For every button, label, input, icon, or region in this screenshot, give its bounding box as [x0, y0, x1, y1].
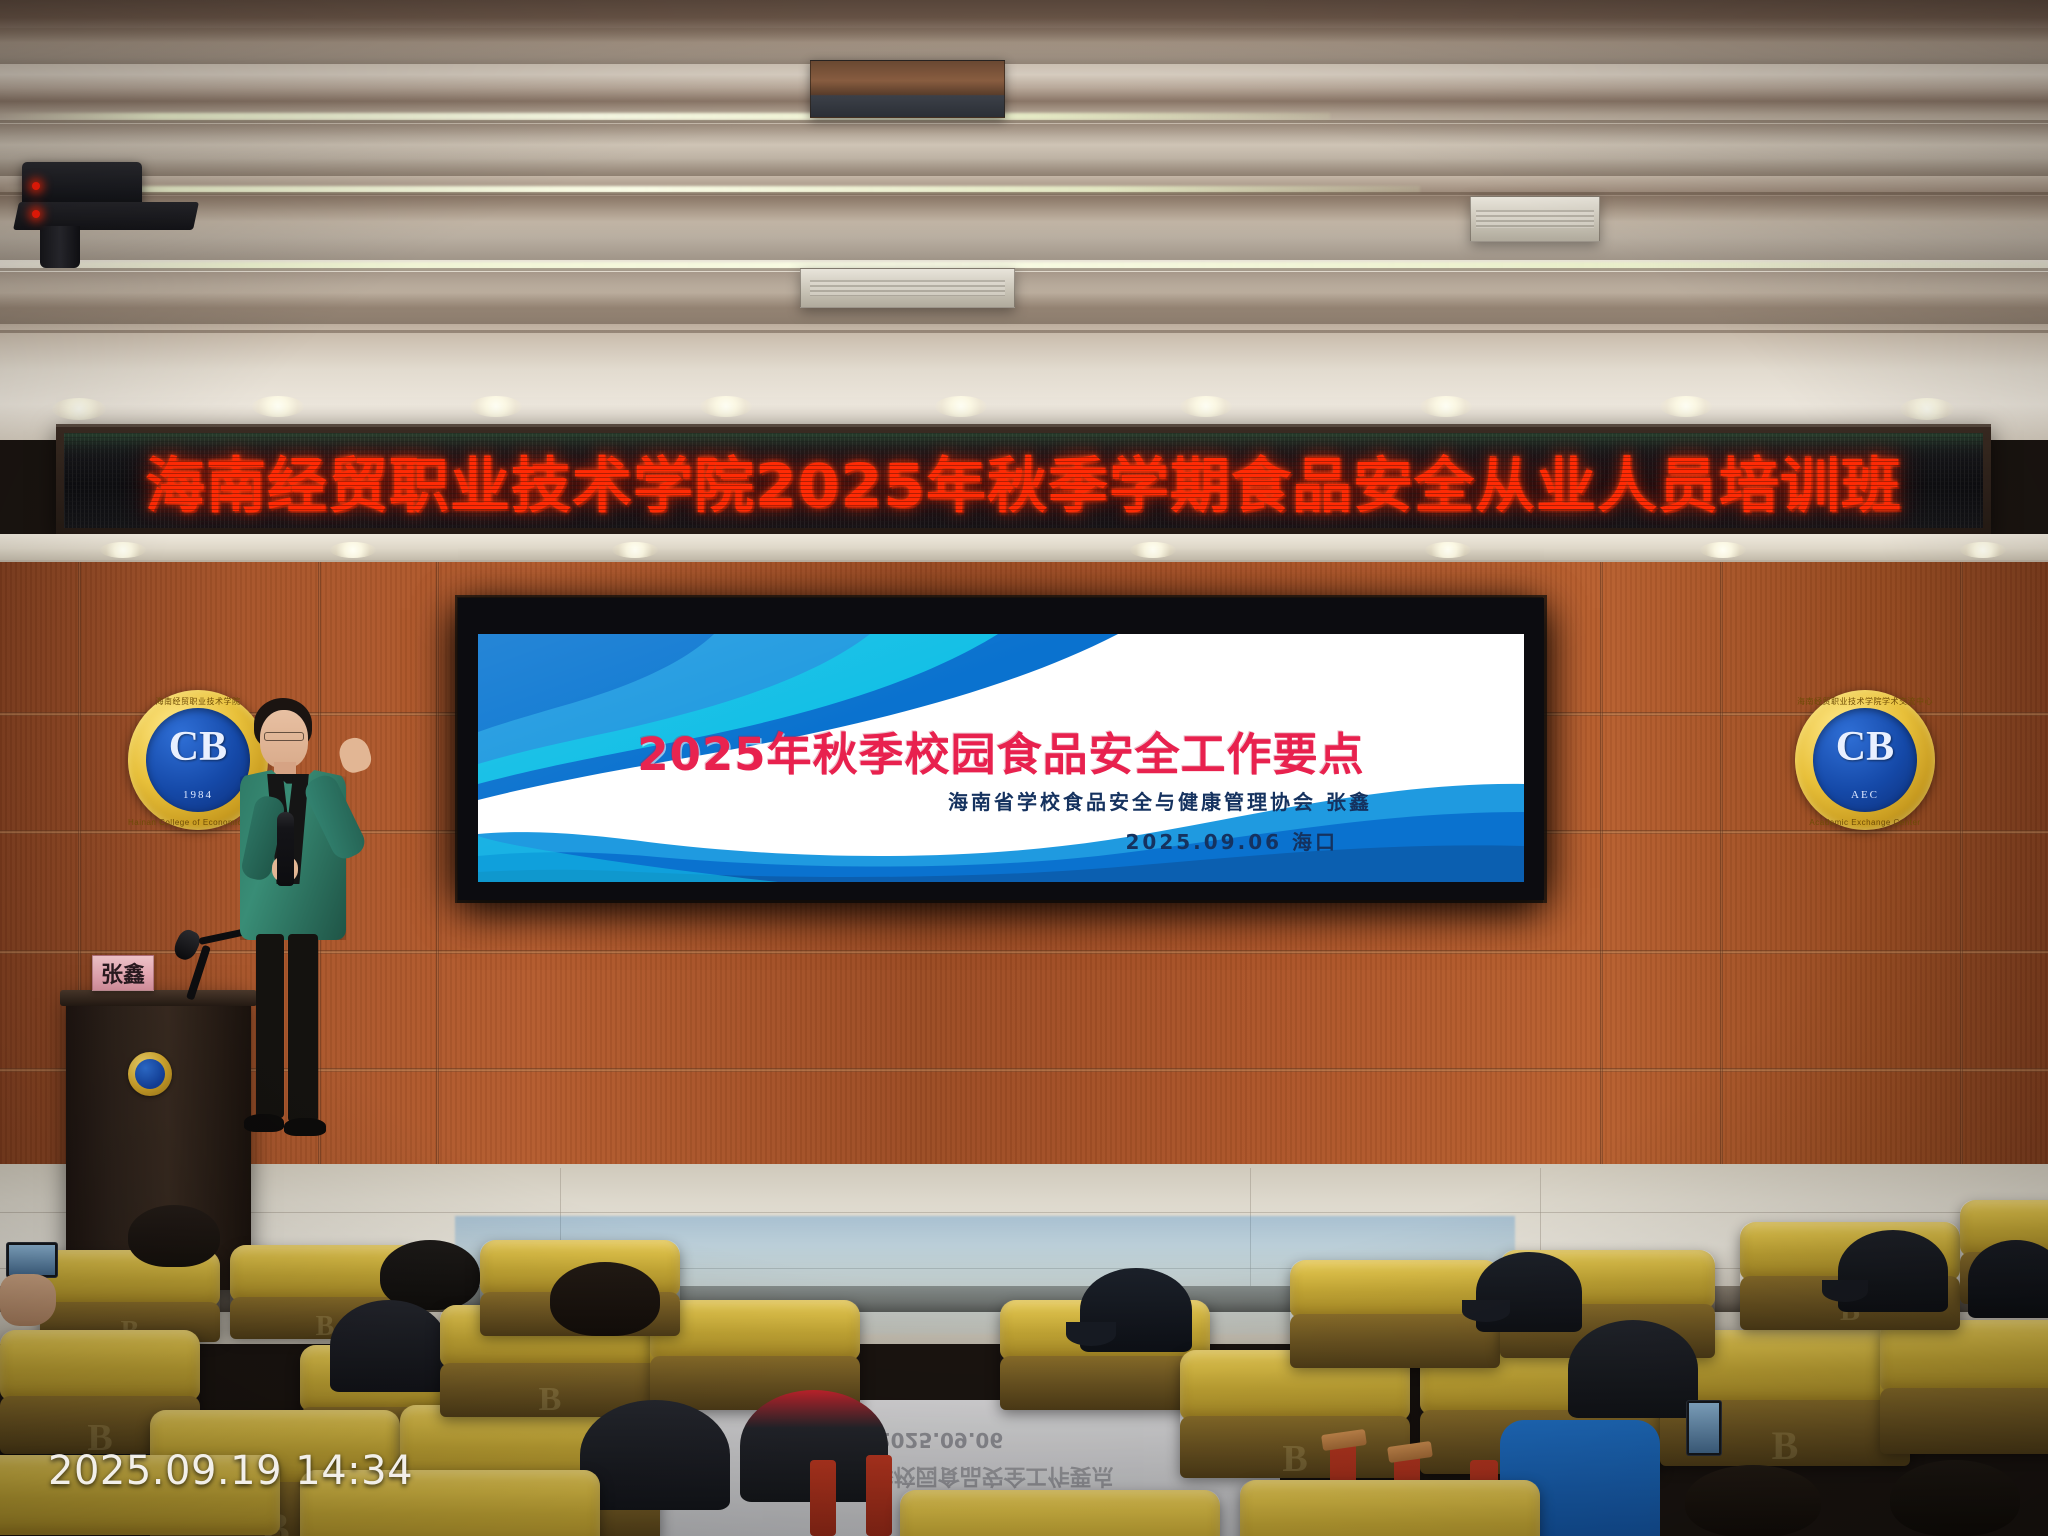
ceiling-downlight	[1420, 396, 1472, 417]
led-banner-frame: 海南经贸职业技术学院2025年秋季学期食品安全从业人员培训班	[56, 424, 1991, 534]
audience-cap-brim	[1822, 1280, 1868, 1302]
soffit-downlight	[1960, 542, 2006, 558]
ceiling-downlight	[1900, 398, 1954, 420]
handheld-microphone-icon	[277, 812, 294, 886]
right-wall-emblem: 海南经贸职业技术学院学术交流中心 CB AEC Academic Exchang…	[1795, 690, 1935, 830]
soffit-downlight	[100, 542, 146, 558]
seat-cushion	[0, 1330, 200, 1400]
seat-back	[1000, 1356, 1210, 1410]
audience-cap	[330, 1300, 448, 1392]
slide-title: 2025年秋季校园食品安全工作要点	[478, 718, 1524, 783]
audience-head	[128, 1205, 220, 1267]
seat-armrest	[810, 1460, 836, 1536]
soffit-downlight	[330, 542, 376, 558]
speaker-leg-right	[288, 934, 318, 1122]
ceiling-beam-1	[0, 28, 2048, 64]
slide-subtitle-line-2: 2025.09.06 海口	[1126, 826, 1339, 855]
seat-back: B	[1180, 1416, 1410, 1478]
seat-cushion	[1880, 1320, 2048, 1392]
stage-light-indicator-icon	[32, 210, 40, 218]
slide-subtitle-line-1: 海南省学校食品安全与健康管理协会 张鑫	[948, 786, 1372, 815]
emblem-arc-bottom-text: Academic Exchange Center	[1795, 818, 1935, 827]
podium-crest-icon	[128, 1052, 172, 1096]
soffit-downlight	[1700, 542, 1746, 558]
emblem-acronym: AEC	[1795, 789, 1935, 801]
smartphone-icon[interactable]	[6, 1242, 58, 1278]
audience-cap	[1968, 1240, 2048, 1318]
ceiling-ac-unit	[810, 60, 1005, 118]
audience-head	[1685, 1465, 1821, 1536]
ceiling-beam-3	[0, 196, 2048, 260]
podium-nameplate: 张鑫	[92, 955, 154, 991]
ceiling-downlight	[1660, 396, 1712, 417]
stage-light-fixture	[12, 140, 212, 250]
auditorium-photo: 海南经贸职业技术学院2025年秋季学期食品安全从业人员培训班 海南经贸职业技术学…	[0, 0, 2048, 1536]
seat-logo: B	[1180, 1437, 1410, 1481]
wall-seam-vertical	[1960, 562, 1963, 1164]
smartphone-icon[interactable]	[1686, 1400, 1722, 1456]
soffit-downlight	[612, 542, 658, 558]
speaker-presenter	[222, 690, 382, 1290]
led-banner-panel: 海南经贸职业技术学院2025年秋季学期食品安全从业人员培训班	[64, 433, 1983, 528]
seat-cushion	[1240, 1480, 1540, 1536]
seat[interactable]	[900, 1490, 1220, 1536]
ceiling-downlight	[252, 396, 304, 417]
smartphone-screen	[1689, 1403, 1719, 1453]
wall-seam-vertical	[436, 562, 439, 1164]
seat-back	[1290, 1314, 1500, 1368]
audience-head	[1890, 1460, 2020, 1536]
seat[interactable]	[1240, 1480, 1540, 1536]
ceiling-panel-gap-2	[0, 192, 2048, 195]
wall-seam-vertical	[1720, 562, 1723, 1164]
audience-cap	[1568, 1320, 1698, 1418]
ceiling-beam-4	[0, 272, 2048, 324]
seat[interactable]	[1880, 1320, 2048, 1450]
photo-timestamp: 2025.09.19 14:34	[48, 1448, 413, 1494]
audience-cap	[580, 1400, 730, 1510]
seat-back	[1880, 1388, 2048, 1454]
ceiling-strip-light-1	[0, 113, 1330, 120]
ceiling-downlight	[52, 398, 106, 420]
ceiling-downlight	[935, 396, 987, 417]
seat-cushion	[650, 1300, 860, 1360]
audience-hand	[0, 1274, 56, 1326]
ceiling-ac-diffuser	[1470, 196, 1600, 242]
stage-light-neck	[40, 226, 80, 268]
seat-cushion	[900, 1490, 1220, 1536]
stage-light-indicator-icon	[32, 182, 40, 190]
ceiling-downlight	[700, 396, 752, 417]
ceiling-panel-gap-3	[0, 268, 2048, 271]
ceiling-downlight	[1180, 396, 1232, 417]
emblem-monogram: CB	[1820, 726, 1910, 788]
speaker-leg-left	[256, 934, 284, 1118]
led-banner-text: 海南经贸职业技术学院2025年秋季学期食品安全从业人员培训班	[64, 437, 1983, 524]
speaker-glasses-icon	[264, 732, 304, 741]
ceiling-downlight	[470, 396, 522, 417]
presentation-slide: 2025年秋季校园食品安全工作要点 海南省学校食品安全与健康管理协会 张鑫 20…	[478, 634, 1524, 882]
soffit-downlight	[1130, 542, 1176, 558]
ceiling-panel-gap-4	[0, 330, 2048, 333]
speaker-raised-hand	[336, 735, 374, 776]
audience-head	[550, 1262, 660, 1336]
smartphone-screen	[9, 1245, 55, 1275]
emblem-arc-top-text: 海南经贸职业技术学院学术交流中心	[1795, 696, 1935, 707]
audience-cap-brim	[1462, 1300, 1510, 1322]
speaker-shoe-right	[284, 1118, 326, 1136]
seat[interactable]: B	[1180, 1350, 1410, 1475]
ceiling-ac-diffuser	[800, 268, 1015, 308]
seat-armrest	[866, 1455, 892, 1536]
ceiling-beam-2	[0, 124, 2048, 176]
soffit-downlight	[1425, 542, 1471, 558]
wall-seam-vertical	[1600, 562, 1603, 1164]
audience-cap-brim	[1066, 1322, 1116, 1346]
speaker-shoe-left	[244, 1114, 284, 1132]
ceiling-panel-gap-1	[0, 120, 2048, 123]
